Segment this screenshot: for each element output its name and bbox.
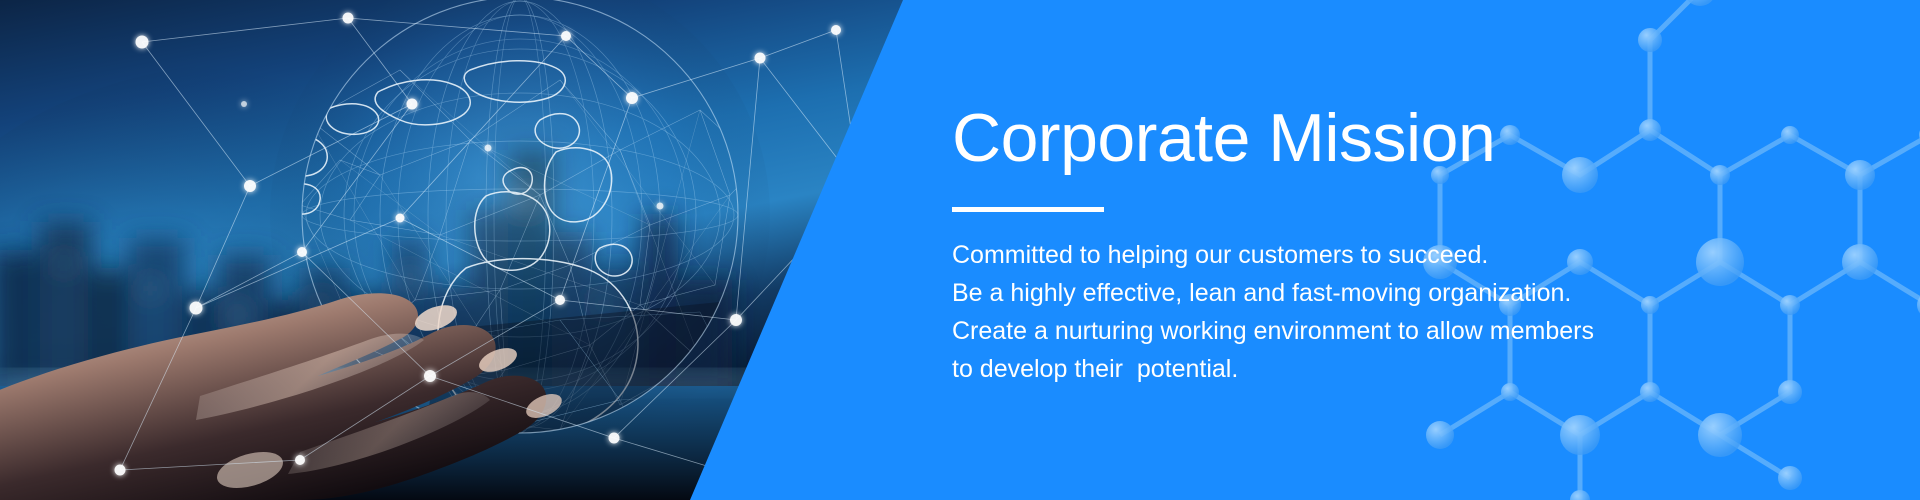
mission-line: to develop their potential.	[952, 350, 1712, 388]
mission-line: Be a highly effective, lean and fast-mov…	[952, 274, 1712, 312]
mission-line: Create a nurturing working environment t…	[952, 312, 1712, 350]
corporate-mission-banner: Corporate Mission Committed to helping o…	[0, 0, 1920, 500]
page-title: Corporate Mission	[952, 104, 1712, 173]
mission-content: Corporate Mission Committed to helping o…	[952, 104, 1712, 388]
mission-statement-list: Committed to helping our customers to su…	[952, 236, 1712, 388]
mission-line: Committed to helping our customers to su…	[952, 236, 1712, 274]
title-underline-rule	[952, 207, 1104, 212]
